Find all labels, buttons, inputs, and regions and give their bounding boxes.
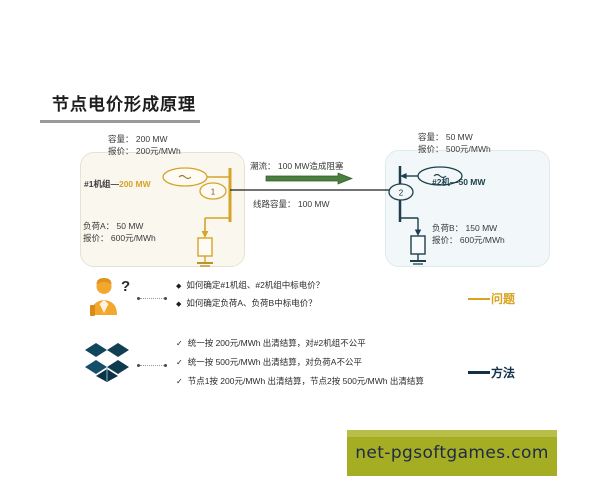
connector-line — [140, 365, 164, 366]
connector-dot-end — [164, 297, 167, 300]
methods-callout: 方法 — [468, 364, 515, 381]
left-capacity-label: 容量： 200 MW 报价： 200元/MWh — [108, 133, 181, 158]
right-unit-mw: 50 MW — [458, 177, 485, 187]
check-bullet-icon: ✓ — [176, 377, 183, 386]
method-item-text: 统一按 200元/MWh 出清结算，对#2机组不公平 — [188, 337, 366, 349]
title-underline — [40, 120, 200, 123]
question-item-text: 如何确定负荷A、负荷B中标电价？ — [186, 297, 316, 309]
question-item: ◆ 如何确定#1机组、#2机组中标电价？ — [176, 279, 324, 291]
left-load-label: 负荷A： 50 MW 报价： 600元/MWh — [83, 220, 156, 245]
boxes-icon — [84, 340, 132, 382]
connector-dot-end — [164, 364, 167, 367]
method-item: ✓ 统一按 200元/MWh 出清结算，对#2机组不公平 — [176, 337, 424, 349]
callout-dash — [468, 298, 490, 300]
question-item-text: 如何确定#1机组、#2机组中标电价？ — [186, 279, 324, 291]
page-title: 节点电价形成原理 — [52, 90, 196, 115]
left-unit-prefix: #1机组— — [84, 179, 119, 189]
methods-callout-text: 方法 — [491, 364, 515, 381]
line-capacity-label: 线路容量： 100 MW — [253, 198, 330, 210]
method-item-text: 统一按 500元/MWh 出清结算，对负荷A不公平 — [188, 356, 362, 368]
methods-list: ✓ 统一按 200元/MWh 出清结算，对#2机组不公平 ✓ 统一按 500元/… — [176, 337, 424, 394]
question-connector — [137, 297, 167, 300]
method-item-text: 节点1按 200元/MWh 出清结算，节点2按 500元/MWh 出清结算 — [188, 375, 424, 387]
right-capacity-label: 容量： 50 MW 报价： 500元/MWh — [418, 131, 491, 156]
slide-canvas: 节点电价形成原理 1 2 — [0, 0, 600, 480]
check-bullet-icon: ✓ — [176, 339, 183, 348]
left-load-offer-text: 报价： 600元/MWh — [83, 232, 156, 244]
left-node-panel — [80, 152, 245, 267]
check-bullet-icon: ✓ — [176, 358, 183, 367]
watermark-text: net-pgsoftgames.com — [355, 443, 549, 463]
right-unit-label: #2机—50 MW — [432, 176, 485, 188]
method-connector — [137, 364, 167, 367]
method-item: ✓ 统一按 500元/MWh 出清结算，对负荷A不公平 — [176, 356, 424, 368]
left-load-text: 负荷A： 50 MW — [83, 220, 156, 232]
questions-callout-text: 问题 — [491, 290, 515, 307]
left-capacity-text: 容量： 200 MW — [108, 133, 181, 145]
questions-list: ◆ 如何确定#1机组、#2机组中标电价？ ◆ 如何确定负荷A、负荷B中标电价？ — [176, 279, 324, 315]
right-node-panel — [385, 150, 550, 267]
right-capacity-text: 容量： 50 MW — [418, 131, 491, 143]
callout-dash — [468, 371, 490, 374]
diamond-bullet-icon: ◆ — [176, 300, 181, 308]
diamond-bullet-icon: ◆ — [176, 282, 181, 290]
watermark-banner: net-pgsoftgames.com — [347, 430, 557, 476]
right-load-offer-text: 报价： 600元/MWh — [432, 234, 505, 246]
right-load-label: 负荷B： 150 MW 报价： 600元/MWh — [432, 222, 505, 247]
right-offer-text: 报价： 500元/MWh — [418, 143, 491, 155]
person-question-icon: ? — [85, 277, 133, 319]
svg-text:?: ? — [121, 278, 130, 295]
question-item: ◆ 如何确定负荷A、负荷B中标电价？ — [176, 297, 324, 309]
left-offer-text: 报价： 200元/MWh — [108, 145, 181, 157]
right-unit-prefix: #2机— — [432, 177, 458, 187]
method-item: ✓ 节点1按 200元/MWh 出清结算，节点2按 500元/MWh 出清结算 — [176, 375, 424, 387]
left-unit-mw: 200 MW — [119, 179, 151, 189]
connector-line — [140, 298, 164, 299]
questions-callout: 问题 — [468, 290, 515, 307]
right-load-text: 负荷B： 150 MW — [432, 222, 505, 234]
left-unit-label: #1机组—200 MW — [84, 178, 151, 190]
power-flow-label: 潮流： 100 MW造成阻塞 — [250, 160, 344, 172]
